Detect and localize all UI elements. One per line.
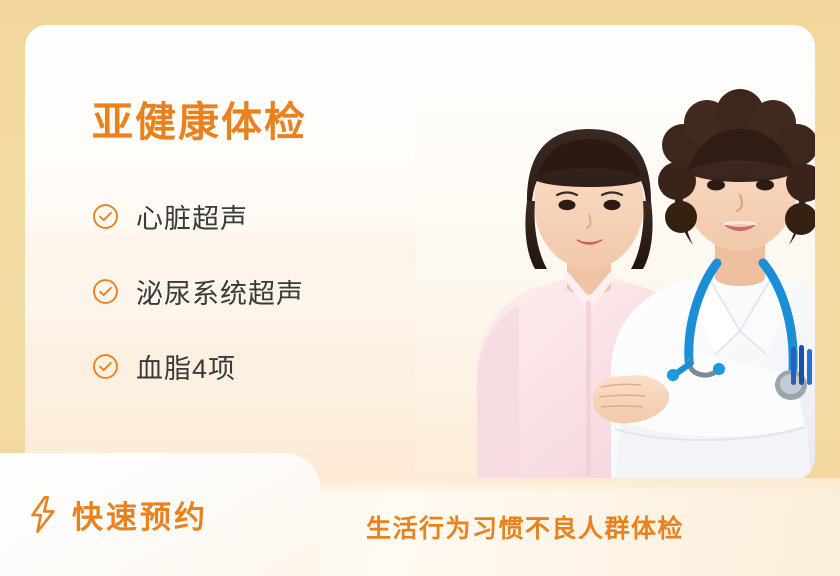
feature-list: 心脏超声 泌尿系统超声 血脂4项 [92,179,452,404]
doctor-and-nurse-photo [415,25,815,480]
package-card: 亚健康体检 心脏超声 泌尿系统超声 [25,25,815,480]
check-circle-icon [92,278,119,305]
promo-banner-root: 亚健康体检 心脏超声 泌尿系统超声 [0,0,840,576]
list-item-label: 血脂4项 [136,347,236,386]
list-item: 血脂4项 [92,329,452,404]
package-content: 亚健康体检 心脏超声 泌尿系统超声 [92,80,452,404]
check-circle-icon [92,353,119,380]
list-item-label: 心脏超声 [136,197,248,236]
check-circle-icon [92,203,119,230]
list-item: 泌尿系统超声 [92,254,452,329]
lightning-bolt-icon [28,496,58,533]
quick-book-button[interactable]: 快速预约 [0,453,320,576]
list-item: 心脏超声 [92,179,452,254]
list-item-label: 泌尿系统超声 [136,272,304,311]
quick-book-label: 快速预约 [72,492,208,537]
page-title: 亚健康体检 [92,100,452,145]
tagline: 生活行为习惯不良人群体检 [366,509,684,545]
